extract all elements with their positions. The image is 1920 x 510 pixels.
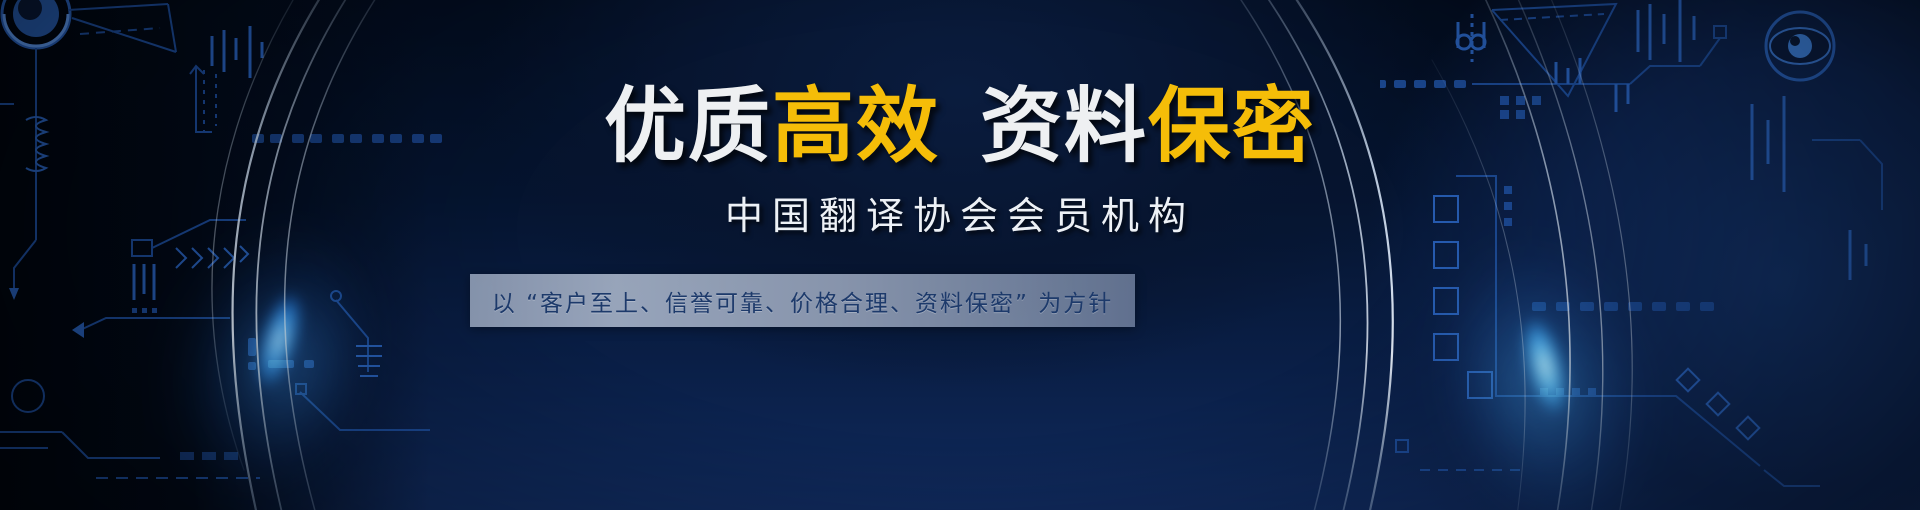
tagline-text: 以 “客户至上、信誉可靠、价格合理、资料保密” 为方针 bbox=[492, 284, 1113, 318]
headline-segment-4: 保密 bbox=[1148, 79, 1316, 174]
headline-segment-2: 高效 bbox=[772, 79, 940, 174]
headline-segment-1: 优质 bbox=[604, 79, 772, 174]
tagline-bar: 以 “客户至上、信誉可靠、价格合理、资料保密” 为方针 bbox=[470, 274, 1135, 327]
headline-segment-3: 资料 bbox=[980, 79, 1148, 174]
hero-banner: 优质高效资料保密 中国翻译协会会员机构 以 “客户至上、信誉可靠、价格合理、资料… bbox=[0, 0, 1920, 510]
banner-content: 优质高效资料保密 中国翻译协会会员机构 以 “客户至上、信誉可靠、价格合理、资料… bbox=[0, 0, 1920, 238]
headline: 优质高效资料保密 bbox=[0, 0, 1920, 168]
subtitle: 中国翻译协会会员机构 bbox=[0, 168, 1920, 238]
